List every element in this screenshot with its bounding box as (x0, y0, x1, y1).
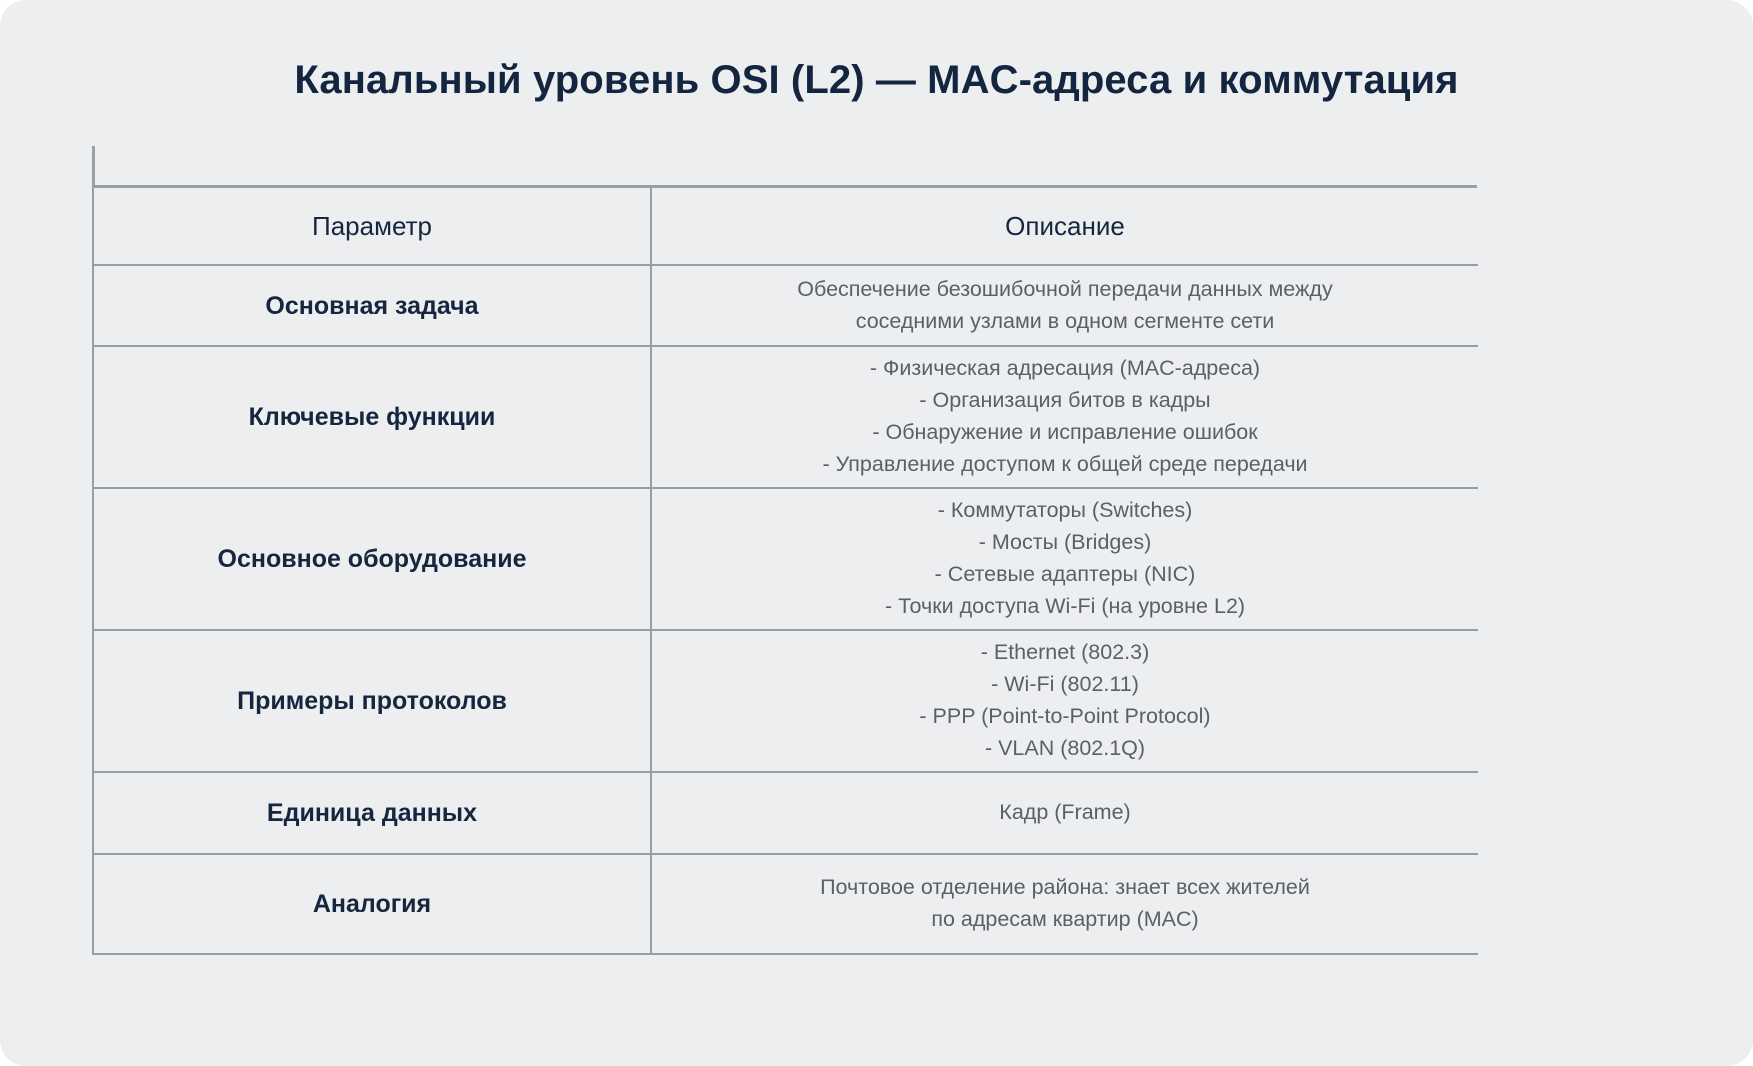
table-row: Основная задача Обеспечение безошибочной… (93, 265, 1478, 346)
desc-line: - PPP (Point-to-Point Protocol) (666, 701, 1464, 733)
desc-line: - Сетевые адаптеры (NIC) (666, 559, 1464, 591)
row-description-cell: - Физическая адресация (MAC-адреса) - Ор… (651, 346, 1478, 488)
parameters-table: Параметр Описание Основная задача Обеспе… (92, 188, 1478, 955)
table-header-row: Параметр Описание (93, 188, 1478, 265)
row-parameter-label: Основная задача (93, 265, 651, 346)
table-row: Примеры протоколов - Ethernet (802.3) - … (93, 630, 1478, 772)
table-row: Основное оборудование - Коммутаторы (Swi… (93, 488, 1478, 630)
table-row: Единица данных Кадр (Frame) (93, 772, 1478, 854)
table-row: Аналогия Почтовое отделение района: знае… (93, 854, 1478, 954)
row-parameter-label: Ключевые функции (93, 346, 651, 488)
desc-line: - Коммутаторы (Switches) (666, 495, 1464, 527)
row-description-cell: Обеспечение безошибочной передачи данных… (651, 265, 1478, 346)
row-description-cell: - Ethernet (802.3) - Wi-Fi (802.11) - PP… (651, 630, 1478, 772)
page-title: Канальный уровень OSI (L2) — MAC-адреса … (0, 58, 1753, 103)
row-parameter-label: Основное оборудование (93, 488, 651, 630)
desc-line: Почтовое отделение района: знает всех жи… (666, 872, 1464, 904)
parameters-table-container: Параметр Описание Основная задача Обеспе… (92, 146, 1477, 955)
column-header-description: Описание (651, 188, 1478, 265)
desc-line: по адресам квартир (MAC) (666, 904, 1464, 936)
desc-line: - Точки доступа Wi-Fi (на уровне L2) (666, 591, 1464, 623)
row-description-cell: Кадр (Frame) (651, 772, 1478, 854)
desc-line: - Управление доступом к общей среде пере… (666, 449, 1464, 481)
desc-line: - Wi-Fi (802.11) (666, 669, 1464, 701)
column-header-parameter: Параметр (93, 188, 651, 265)
slide-canvas: Канальный уровень OSI (L2) — MAC-адреса … (0, 0, 1753, 1066)
row-parameter-label: Примеры протоколов (93, 630, 651, 772)
desc-line: - VLAN (802.1Q) (666, 733, 1464, 765)
desc-line: - Мосты (Bridges) (666, 527, 1464, 559)
desc-line: Кадр (Frame) (666, 797, 1464, 829)
desc-line: Обеспечение безошибочной передачи данных… (666, 274, 1464, 306)
row-description-cell: Почтовое отделение района: знает всех жи… (651, 854, 1478, 954)
desc-line: соседними узлами в одном сегменте сети (666, 306, 1464, 338)
row-description-cell: - Коммутаторы (Switches) - Мосты (Bridge… (651, 488, 1478, 630)
desc-line: - Физическая адресация (MAC-адреса) (666, 353, 1464, 385)
table-top-stub-row (92, 146, 1477, 188)
row-parameter-label: Аналогия (93, 854, 651, 954)
desc-line: - Ethernet (802.3) (666, 637, 1464, 669)
desc-line: - Обнаружение и исправление ошибок (666, 417, 1464, 449)
table-body: Основная задача Обеспечение безошибочной… (93, 265, 1478, 954)
table-row: Ключевые функции - Физическая адресация … (93, 346, 1478, 488)
row-parameter-label: Единица данных (93, 772, 651, 854)
desc-line: - Организация битов в кадры (666, 385, 1464, 417)
